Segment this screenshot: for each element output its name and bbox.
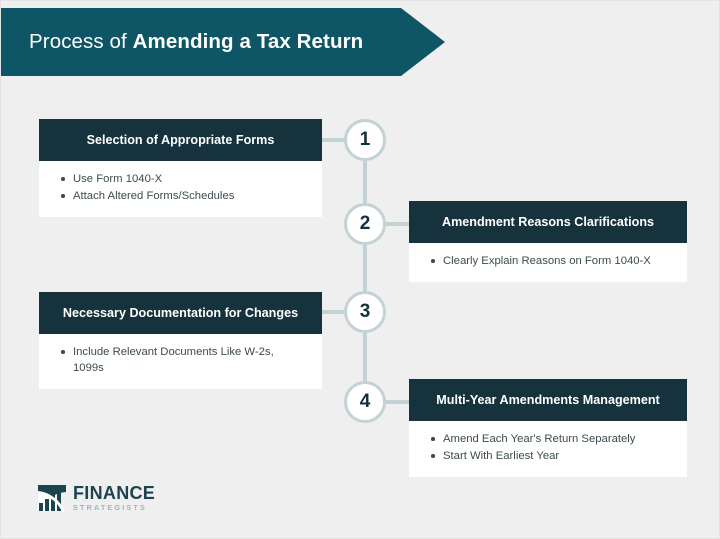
page-title-prefix: Process of [29,30,133,53]
step-card-1: Selection of Appropriate Forms Use Form … [39,119,322,217]
step-card-1-title: Selection of Appropriate Forms [39,119,322,161]
step-circle-1[interactable]: 1 [344,119,386,161]
step-card-2: Amendment Reasons Clarifications Clearly… [409,201,687,282]
step-card-4: Multi-Year Amendments Management Amend E… [409,379,687,477]
brand-logo[interactable]: FINANCE STRATEGISTS [36,483,155,513]
page-title: Process of Amending a Tax Return [29,30,363,54]
step-circle-3[interactable]: 3 [344,291,386,333]
step-card-2-bullet-list: Clearly Explain Reasons on Form 1040-X [425,253,671,269]
step-card-4-title: Multi-Year Amendments Management [409,379,687,421]
list-item: Use Form 1040-X [71,171,306,187]
header-banner: Process of Amending a Tax Return [0,8,445,76]
page-title-emphasis: Amending a Tax Return [133,30,364,53]
step-card-3-title: Necessary Documentation for Changes [39,292,322,334]
step-number-1: 1 [360,129,371,151]
step-card-3-body: Include Relevant Documents Like W-2s, 10… [39,334,322,389]
step-circle-2[interactable]: 2 [344,203,386,245]
step-card-3: Necessary Documentation for Changes Incl… [39,292,322,389]
list-item: Include Relevant Documents Like W-2s, 10… [71,344,306,376]
step-card-4-body: Amend Each Year's Return Separately Star… [409,421,687,477]
step-card-2-title: Amendment Reasons Clarifications [409,201,687,243]
finance-strategists-logo-icon [36,483,68,513]
list-item: Start With Earliest Year [441,448,671,464]
step-card-1-body: Use Form 1040-X Attach Altered Forms/Sch… [39,161,322,217]
step-card-3-bullet-list: Include Relevant Documents Like W-2s, 10… [55,344,306,376]
step-number-2: 2 [360,213,371,235]
step-card-2-body: Clearly Explain Reasons on Form 1040-X [409,243,687,282]
step-card-4-bullet-list: Amend Each Year's Return Separately Star… [425,431,671,464]
step-circle-4[interactable]: 4 [344,381,386,423]
step-number-4: 4 [360,391,371,413]
step-number-3: 3 [360,301,371,323]
infographic-canvas: Process of Amending a Tax Return 1 2 3 4… [0,0,720,539]
list-item: Attach Altered Forms/Schedules [71,188,306,204]
step-card-1-bullet-list: Use Form 1040-X Attach Altered Forms/Sch… [55,171,306,204]
list-item: Amend Each Year's Return Separately [441,431,671,447]
logo-wordmark: FINANCE STRATEGISTS [73,484,155,511]
logo-primary-text: FINANCE [73,484,155,502]
list-item: Clearly Explain Reasons on Form 1040-X [441,253,671,269]
logo-secondary-text: STRATEGISTS [73,504,155,511]
